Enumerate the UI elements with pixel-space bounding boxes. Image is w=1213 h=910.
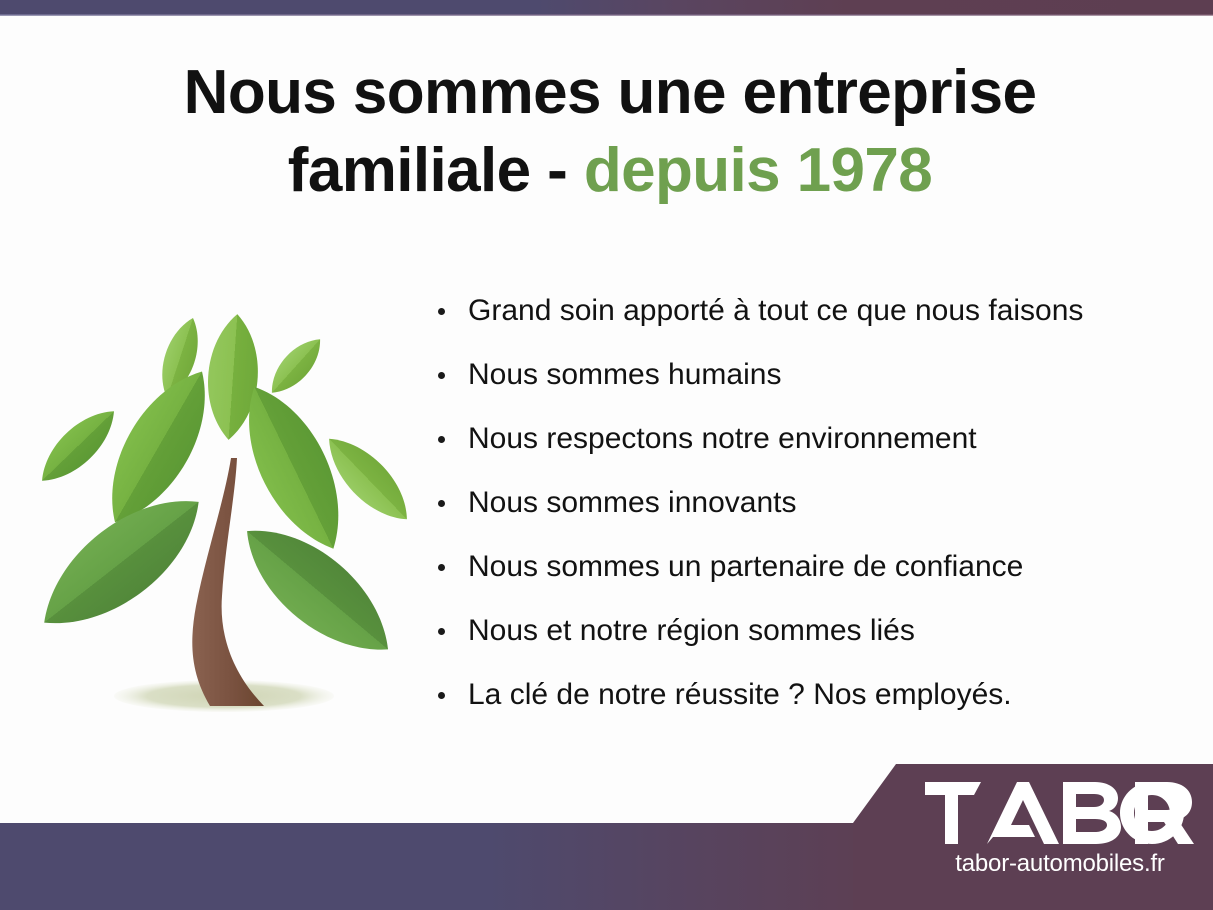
top-bar-highlight-edge: [0, 14, 1213, 16]
list-item-label: Nous sommes humains: [468, 358, 781, 391]
list-item: Nous sommes un partenaire de confiance: [432, 544, 1172, 608]
page-title-accent: depuis 1978: [584, 136, 932, 205]
list-item: Nous sommes humains: [432, 352, 1172, 416]
tree-illustration: [28, 306, 428, 722]
list-item-label: Nous et notre région sommes liés: [468, 614, 915, 647]
list-item: Nous et notre région sommes liés: [432, 608, 1172, 672]
list-item: Nous respectons notre environnement: [432, 416, 1172, 480]
bullet-icon: [438, 372, 445, 379]
slide: Nous sommes une entreprise familiale - d…: [0, 0, 1213, 910]
tabor-logo-wordmark: [925, 782, 1195, 844]
page-title: Nous sommes une entreprise familiale - d…: [60, 54, 1160, 209]
tabor-logo-icon: [925, 782, 1195, 844]
bullet-icon: [438, 564, 445, 571]
list-item: Nous sommes innovants: [432, 480, 1172, 544]
bullet-icon: [438, 500, 445, 507]
bullet-icon: [438, 692, 445, 699]
values-list: Grand soin apporté à tout ce que nous fa…: [432, 288, 1172, 736]
top-decorative-bar: [0, 0, 1213, 15]
tree-trunk: [192, 458, 264, 706]
list-item-label: Grand soin apporté à tout ce que nous fa…: [468, 294, 1083, 327]
page-title-line-2-plain: familiale -: [288, 136, 584, 205]
list-item: La clé de notre réussite ? Nos employés.: [432, 672, 1172, 736]
list-item-label: Nous sommes un partenaire de confiance: [468, 550, 1023, 583]
list-item-label: Nous respectons notre environnement: [468, 422, 977, 455]
bullet-icon: [438, 308, 445, 315]
bullet-icon: [438, 628, 445, 635]
list-item-label: Nous sommes innovants: [468, 486, 796, 519]
bullet-icon: [438, 436, 445, 443]
list-item: Grand soin apporté à tout ce que nous fa…: [432, 288, 1172, 352]
list-item-label: La clé de notre réussite ? Nos employés.: [468, 678, 1012, 711]
page-title-line-2: familiale - depuis 1978: [60, 132, 1160, 210]
tree-icon: [28, 306, 428, 722]
page-title-line-1: Nous sommes une entreprise: [60, 54, 1160, 132]
logo-website-url: tabor-automobiles.fr: [925, 850, 1195, 878]
